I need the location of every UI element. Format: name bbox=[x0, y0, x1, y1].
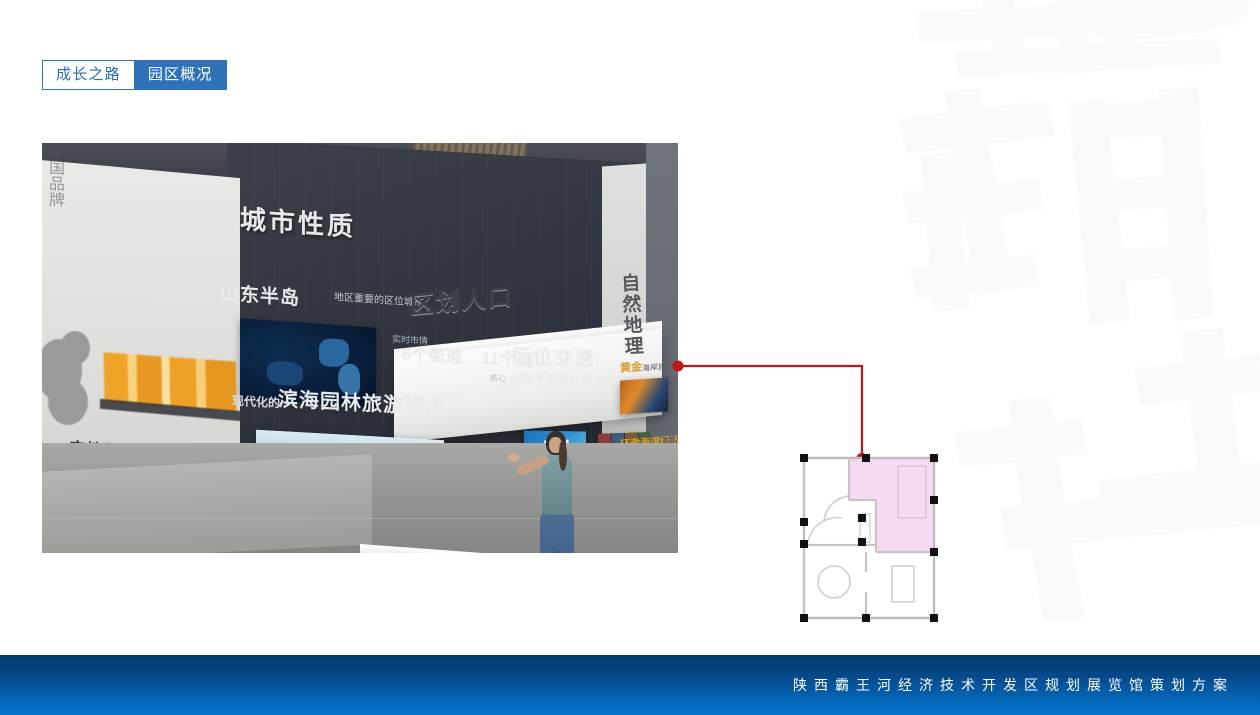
wall-heading-location-transport: 区位交通 bbox=[512, 342, 596, 372]
tab-growth-path[interactable]: 成长之路 bbox=[42, 60, 134, 90]
sculpture-blob-2 bbox=[48, 379, 88, 425]
slide-root: 成长之路 园区概况 bbox=[0, 0, 1260, 715]
wall-label-core: 核心 bbox=[490, 373, 506, 385]
photo-content: 9 城市性质 山东半岛 地区重要的区位城市 现代化的 滨海园林旅游城市 区划人口 bbox=[42, 143, 678, 553]
handle-top-left bbox=[800, 454, 808, 462]
exhibition-wall-photo[interactable]: 9 城市性质 山东半岛 地区重要的区位城市 现代化的 滨海园林旅游城市 区划人口 bbox=[42, 143, 678, 553]
handle-inner-upper bbox=[858, 514, 866, 522]
wall-stat-golden-coast: 黄金 bbox=[620, 358, 642, 376]
wall-text-china-brand: 中国品牌 bbox=[42, 143, 66, 208]
handle-right-lower bbox=[930, 548, 938, 556]
tab-bar: 成长之路 园区概况 bbox=[42, 60, 227, 90]
wall-heading-shandong-peninsula: 山东半岛 bbox=[220, 278, 300, 311]
tab-park-overview[interactable]: 园区概况 bbox=[134, 60, 227, 90]
plan-fixture-lower-right bbox=[892, 566, 914, 602]
handle-right-upper bbox=[930, 496, 938, 504]
handle-bottom-right bbox=[930, 614, 938, 622]
plan-fixture-round-table bbox=[818, 566, 850, 598]
sculpture-blob-3 bbox=[60, 331, 90, 365]
handle-bottom-left bbox=[800, 614, 808, 622]
plan-door-arc-2 bbox=[808, 518, 842, 542]
wall-prefix-modern: 现代化的 bbox=[232, 392, 280, 412]
footer-title: 陕西霸王河经济技术开发区规划展览馆策划方案 bbox=[793, 675, 1234, 695]
visitor-figure bbox=[526, 431, 586, 553]
stat-streets: 6个街道 bbox=[402, 345, 462, 367]
handle-left-mid bbox=[800, 518, 808, 526]
floor-plan-diagram[interactable] bbox=[794, 452, 946, 626]
selected-zone-highlight bbox=[849, 458, 934, 552]
panel-image-golden-coast bbox=[620, 377, 668, 414]
footer-bar: 陕西霸王河经济技术开发区规划展览馆策划方案 bbox=[0, 655, 1260, 715]
handle-left-lower bbox=[800, 540, 808, 548]
handle-top-mid bbox=[862, 454, 870, 462]
floor-left bbox=[42, 454, 372, 553]
handle-bottom-mid bbox=[862, 614, 870, 622]
wall-heading-natural-geography: 自然地理 bbox=[615, 272, 646, 357]
handle-inner-lower bbox=[858, 538, 866, 546]
handle-top-right bbox=[930, 454, 938, 462]
